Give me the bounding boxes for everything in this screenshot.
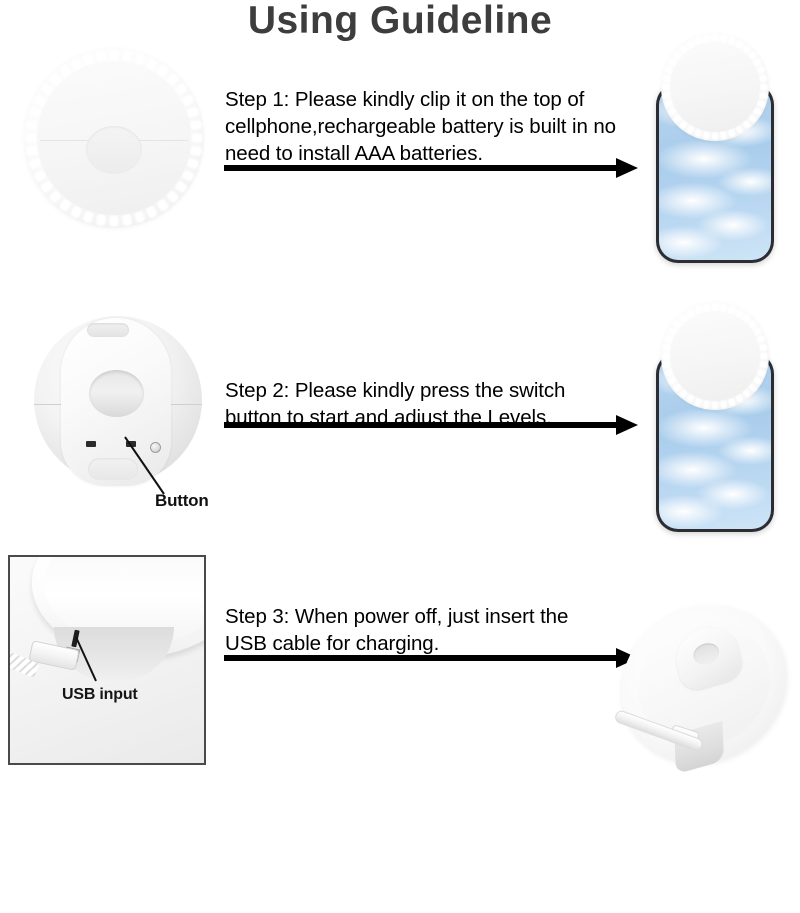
led-bead bbox=[616, 569, 623, 577]
clip-hole bbox=[89, 370, 144, 417]
phone-clip-slot bbox=[86, 126, 142, 174]
led-bead bbox=[728, 398, 735, 405]
led-bead bbox=[760, 76, 767, 82]
led-bead bbox=[721, 304, 727, 311]
led-bead bbox=[754, 108, 762, 115]
led-bead bbox=[663, 93, 670, 99]
led-bead bbox=[713, 402, 718, 408]
step-3-arrow-icon bbox=[224, 648, 638, 668]
button-callout-label: Button bbox=[155, 491, 209, 511]
led-bead bbox=[123, 215, 131, 225]
led-bead bbox=[97, 51, 105, 61]
led-bead bbox=[193, 135, 202, 142]
led-bead bbox=[644, 588, 653, 597]
led-bead bbox=[191, 121, 201, 129]
led-bead bbox=[659, 814, 667, 823]
led-bead bbox=[663, 354, 669, 359]
led-bead bbox=[721, 132, 727, 139]
led-bead bbox=[631, 813, 639, 822]
led-bead bbox=[175, 181, 186, 192]
arrow-shaft bbox=[224, 655, 618, 661]
product-image-usb-input-photo bbox=[8, 555, 206, 765]
led-bead bbox=[754, 377, 762, 384]
led-bead bbox=[111, 51, 118, 60]
led-bead bbox=[704, 132, 710, 139]
led-bead bbox=[613, 850, 621, 859]
step-2-arrow-icon bbox=[224, 415, 638, 435]
product-image-ring-light-front bbox=[24, 48, 204, 228]
clip-top-tab bbox=[87, 323, 129, 337]
led-bead bbox=[663, 362, 670, 368]
led-bead bbox=[97, 215, 105, 225]
led-bead bbox=[743, 121, 751, 129]
led-bead bbox=[760, 345, 767, 351]
led-bead bbox=[157, 199, 168, 210]
led-bead bbox=[188, 159, 199, 168]
led-bead bbox=[602, 853, 611, 862]
led-bead bbox=[167, 191, 178, 202]
led-bead bbox=[704, 401, 710, 408]
led-bead bbox=[757, 369, 764, 376]
led-bead bbox=[574, 833, 583, 839]
led-bead bbox=[757, 336, 764, 343]
led-bead bbox=[757, 100, 764, 107]
page-title: Using Guideline bbox=[0, 0, 800, 44]
ring-light-clipped-step-1 bbox=[661, 33, 769, 141]
led-bead bbox=[728, 129, 735, 136]
led-bead bbox=[625, 845, 632, 853]
led-bead bbox=[586, 557, 593, 566]
led-bead bbox=[760, 93, 767, 99]
led-bead bbox=[572, 839, 580, 846]
led-bead bbox=[704, 304, 710, 311]
led-bead bbox=[704, 35, 710, 42]
led-bead bbox=[749, 384, 757, 392]
led-bead bbox=[721, 401, 727, 408]
led-bead bbox=[182, 95, 193, 105]
led-bead bbox=[749, 115, 757, 123]
led-bead bbox=[760, 362, 767, 368]
led-bead bbox=[736, 395, 743, 403]
led-bead bbox=[617, 813, 626, 822]
led-bead bbox=[123, 51, 131, 61]
led-bead bbox=[592, 854, 601, 863]
led-bead bbox=[135, 212, 144, 223]
led-bead bbox=[30, 108, 41, 117]
arrow-head bbox=[616, 158, 638, 178]
led-bead bbox=[84, 212, 93, 223]
led-bead bbox=[761, 85, 767, 90]
step-1-arrow-icon bbox=[224, 158, 638, 178]
led-bead bbox=[27, 121, 37, 129]
led-bead bbox=[677, 785, 687, 794]
led-bead bbox=[713, 35, 718, 41]
led-bead bbox=[630, 578, 638, 587]
led-bead bbox=[761, 354, 767, 359]
led-bead bbox=[663, 345, 670, 351]
led-bead bbox=[648, 827, 655, 836]
led-bead bbox=[757, 67, 764, 74]
product-image-ring-light-charging bbox=[610, 600, 800, 800]
product-image-ring-light-back bbox=[28, 308, 208, 498]
led-bead bbox=[668, 617, 678, 626]
led-bead bbox=[743, 390, 751, 398]
led-bead bbox=[736, 126, 743, 134]
contact-pad-left bbox=[86, 441, 96, 447]
led-bead bbox=[669, 800, 678, 809]
usb-callout-label: USB input bbox=[62, 686, 138, 704]
led-bead bbox=[602, 562, 608, 570]
led-bead bbox=[191, 147, 201, 155]
led-bead bbox=[713, 133, 718, 139]
led-bead bbox=[721, 35, 727, 42]
led-bead bbox=[604, 814, 614, 823]
led-bead bbox=[84, 54, 93, 65]
usb-callout-leader-line bbox=[10, 557, 206, 765]
led-bead bbox=[663, 76, 670, 82]
led-bead bbox=[637, 837, 643, 845]
arrow-shaft bbox=[224, 422, 618, 428]
led-bead bbox=[695, 398, 702, 405]
led-bead bbox=[663, 85, 669, 90]
led-bead bbox=[27, 147, 37, 155]
step-1-text: Step 1: Please kindly clip it on the top… bbox=[225, 86, 625, 167]
led-bead bbox=[713, 304, 718, 310]
ring-inner-face bbox=[670, 42, 760, 132]
led-bead bbox=[27, 135, 36, 142]
led-bead bbox=[111, 217, 118, 226]
led-bead bbox=[593, 817, 603, 826]
led-bead bbox=[188, 108, 199, 117]
led-bead bbox=[135, 54, 144, 65]
led-bead bbox=[71, 206, 81, 217]
led-bead bbox=[30, 159, 41, 168]
led-bead bbox=[182, 171, 193, 181]
ring-inner-face bbox=[670, 311, 760, 401]
ring-light-tilted bbox=[606, 585, 800, 782]
led-bead bbox=[656, 601, 665, 610]
led-bead bbox=[147, 206, 157, 217]
ring-light-clipped-step-2 bbox=[661, 302, 769, 410]
arrow-head bbox=[616, 415, 638, 435]
led-bead bbox=[695, 129, 702, 136]
arrow-shaft bbox=[224, 165, 618, 171]
